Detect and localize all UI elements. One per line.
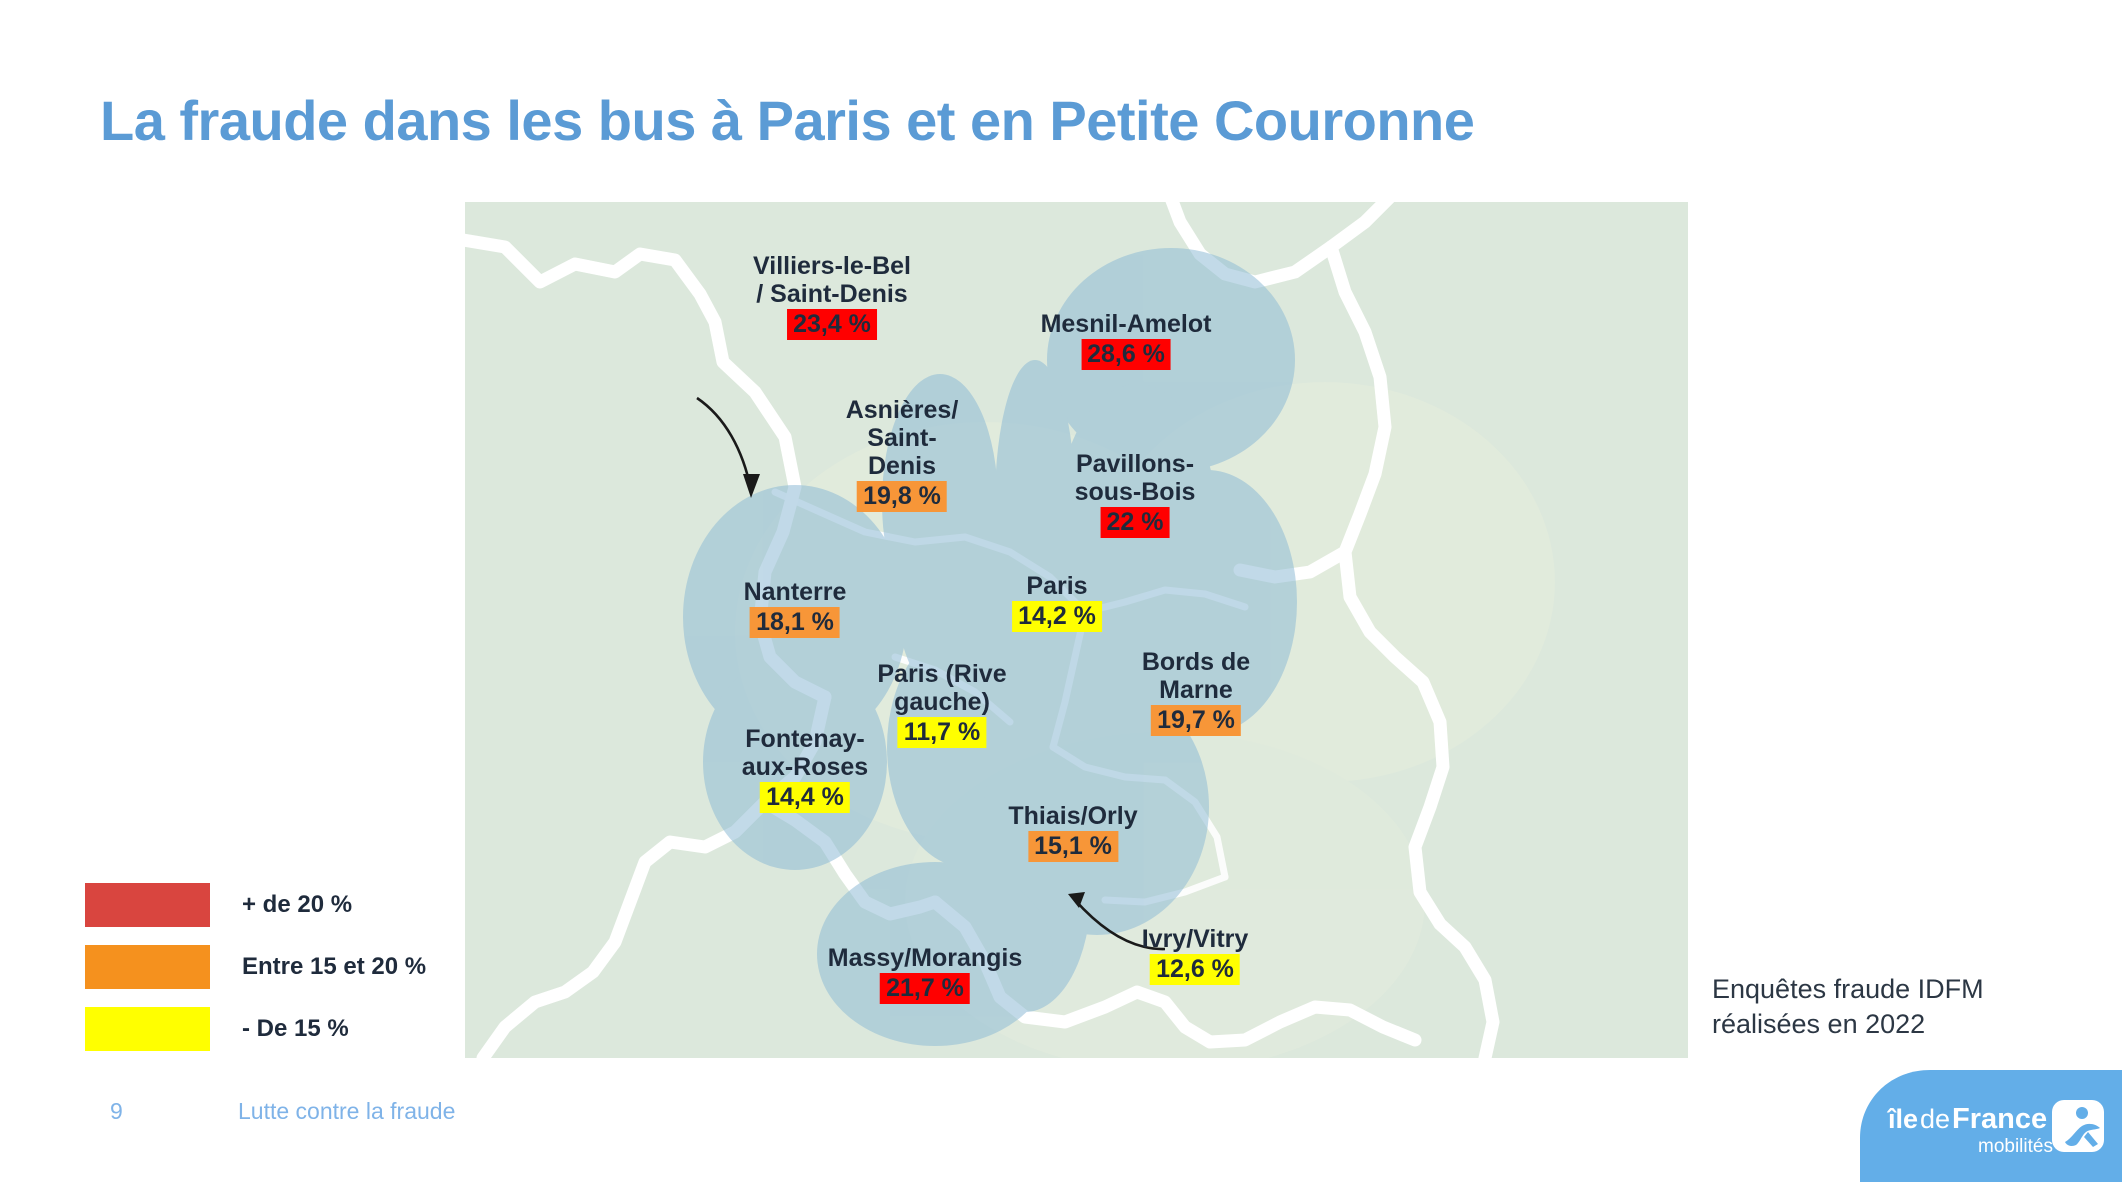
region-name-line: Nanterre: [744, 578, 847, 606]
region-value-badge: 21,7 %: [880, 973, 970, 1004]
region-label-massy-morangis: Massy/Morangis21,7 %: [828, 944, 1023, 1004]
legend-label-mid: Entre 15 et 20 %: [242, 953, 426, 981]
region-label-thiais-orly: Thiais/Orly15,1 %: [1008, 802, 1137, 862]
region-label-bords-de-marne: Bords deMarne19,7 %: [1142, 648, 1250, 736]
region-value-badge: 12,6 %: [1150, 954, 1240, 985]
region-value-wrap: 19,8 %: [846, 480, 959, 512]
region-name-line: Mesnil-Amelot: [1041, 310, 1212, 338]
logo-graphic: île de France mobilités: [1860, 1070, 2122, 1182]
region-value-badge: 19,8 %: [857, 481, 947, 512]
region-name-line: Saint-: [846, 424, 959, 452]
region-label-paris: Paris14,2 %: [1012, 572, 1102, 632]
region-name-line: Ivry/Vitry: [1142, 925, 1249, 953]
legend-swatch-orange: [85, 945, 210, 989]
source-note-line2: réalisées en 2022: [1712, 1007, 2082, 1042]
region-value-wrap: 22 %: [1075, 506, 1196, 538]
region-value-badge: 18,1 %: [750, 607, 840, 638]
region-name-line: Thiais/Orly: [1008, 802, 1137, 830]
region-name-line: Paris: [1012, 572, 1102, 600]
region-name-line: aux-Roses: [742, 753, 868, 781]
ile-de-france-mobilites-logo: île de France mobilités: [1860, 1070, 2122, 1182]
region-name-line: Massy/Morangis: [828, 944, 1023, 972]
legend-row-mid: Entre 15 et 20 %: [85, 942, 445, 992]
page-number: 9: [110, 1098, 123, 1125]
logo-text-france: France: [1952, 1103, 2047, 1135]
region-value-wrap: 12,6 %: [1142, 953, 1249, 985]
region-value-wrap: 14,4 %: [742, 781, 868, 813]
region-name-line: Paris (Rive: [877, 660, 1006, 688]
region-value-wrap: 11,7 %: [877, 716, 1006, 748]
region-value-wrap: 19,7 %: [1142, 704, 1250, 736]
region-name-line: Asnières/: [846, 396, 959, 424]
region-label-nanterre: Nanterre18,1 %: [744, 578, 847, 638]
region-value-wrap: 23,4 %: [753, 308, 911, 340]
region-name-line: Denis: [846, 452, 959, 480]
source-note-line1: Enquêtes fraude IDFM: [1712, 972, 2082, 1007]
region-value-wrap: 18,1 %: [744, 606, 847, 638]
region-label-mesnil-amelot: Mesnil-Amelot28,6 %: [1041, 310, 1212, 370]
legend-label-high: + de 20 %: [242, 891, 352, 919]
legend-row-high: + de 20 %: [85, 880, 445, 930]
region-value-badge: 14,4 %: [760, 782, 850, 813]
region-name-line: Fontenay-: [742, 725, 868, 753]
region-name-line: / Saint-Denis: [753, 280, 911, 308]
legend-swatch-yellow: [85, 1007, 210, 1051]
page-title: La fraude dans les bus à Paris et en Pet…: [100, 88, 1474, 153]
region-value-badge: 28,6 %: [1081, 339, 1171, 370]
legend-swatch-red: [85, 883, 210, 927]
region-name-line: sous-Bois: [1075, 478, 1196, 506]
region-name-line: Marne: [1142, 676, 1250, 704]
logo-text-de: de: [1920, 1104, 1950, 1134]
region-value-wrap: 15,1 %: [1008, 830, 1137, 862]
region-value-badge: 11,7 %: [898, 717, 986, 748]
region-value-wrap: 21,7 %: [828, 972, 1023, 1004]
region-value-badge: 14,2 %: [1012, 601, 1102, 632]
region-label-paris-rive-gauche: Paris (Rivegauche)11,7 %: [877, 660, 1006, 748]
region-value-badge: 15,1 %: [1028, 831, 1118, 862]
region-label-villiers-le-bel-saint-denis: Villiers-le-Bel/ Saint-Denis23,4 %: [753, 252, 911, 340]
region-name-line: Villiers-le-Bel: [753, 252, 911, 280]
region-label-ivry-vitry: Ivry/Vitry12,6 %: [1142, 925, 1249, 985]
region-value-badge: 19,7 %: [1151, 705, 1241, 736]
region-name-line: Pavillons-: [1075, 450, 1196, 478]
logo-text-mobilites: mobilités: [1978, 1136, 2053, 1157]
region-label-fontenay-aux-roses: Fontenay-aux-Roses14,4 %: [742, 725, 868, 813]
legend-row-low: - De 15 %: [85, 1004, 445, 1054]
region-value-wrap: 14,2 %: [1012, 600, 1102, 632]
legend-label-low: - De 15 %: [242, 1015, 349, 1043]
region-label-asnieres-saint-denis: Asnières/Saint-Denis19,8 %: [846, 396, 959, 512]
footer-caption: Lutte contre la fraude: [238, 1098, 455, 1125]
region-name-line: gauche): [877, 688, 1006, 716]
region-value-badge: 23,4 %: [787, 309, 877, 340]
source-note: Enquêtes fraude IDFM réalisées en 2022: [1712, 972, 2082, 1041]
logo-text-ile: île: [1886, 1104, 1918, 1134]
region-label-pavillons-sous-bois: Pavillons-sous-Bois22 %: [1075, 450, 1196, 538]
legend: + de 20 % Entre 15 et 20 % - De 15 %: [85, 880, 445, 1066]
region-value-wrap: 28,6 %: [1041, 338, 1212, 370]
region-value-badge: 22 %: [1101, 507, 1170, 538]
region-name-line: Bords de: [1142, 648, 1250, 676]
